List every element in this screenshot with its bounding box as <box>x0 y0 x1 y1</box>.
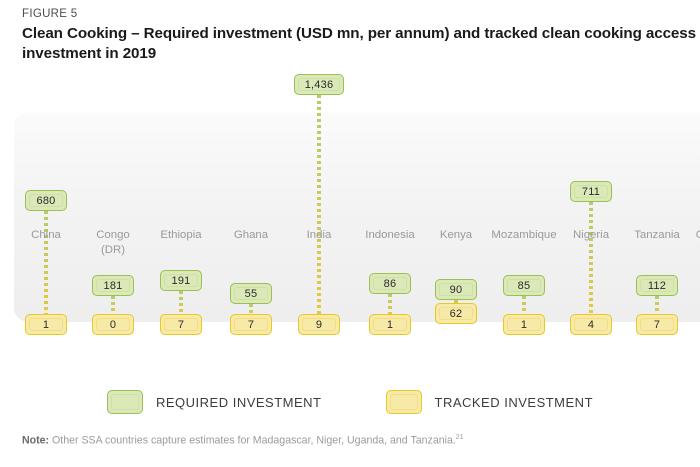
chart-category-column: 861Indonesia <box>354 0 426 340</box>
legend-swatch-tracked-icon <box>386 390 422 414</box>
tracked-investment-value: 7 <box>248 319 254 331</box>
legend-item-required[interactable]: REQUIRED INVESTMENT <box>107 390 322 414</box>
required-investment-value: 680 <box>37 195 56 207</box>
chart-category-column: 1810Congo (DR) <box>77 0 149 340</box>
required-investment-value: 85 <box>518 280 531 292</box>
tracked-investment-value: 62 <box>450 308 463 320</box>
tracked-investment-value: 9 <box>316 319 322 331</box>
tracked-investment-value: 1 <box>387 319 393 331</box>
tracked-investment-value: 4 <box>588 319 594 331</box>
required-investment-value: 90 <box>450 284 463 296</box>
tracked-investment-value-box[interactable]: 0 <box>92 314 134 335</box>
tracked-investment-value: 7 <box>178 319 184 331</box>
chart-plot-area: 6801China1810Congo (DR)1917Ethiopia557Gh… <box>0 0 700 340</box>
required-investment-value-box[interactable]: 191 <box>160 270 202 291</box>
value-connector-line <box>111 296 115 314</box>
chart-category-label: Other SSA (o <box>675 228 700 257</box>
chart-category-column: 6801China <box>10 0 82 340</box>
required-investment-value-box[interactable]: 90 <box>435 279 477 300</box>
required-investment-value-box[interactable]: 1,436 <box>294 74 344 95</box>
tracked-investment-value-box[interactable]: 9 <box>298 314 340 335</box>
chart-category-column: 1917Ethiopia <box>145 0 217 340</box>
chart-category-column: 9062Kenya <box>420 0 492 340</box>
value-connector-line <box>655 296 659 314</box>
chart-category-column: 557Ghana <box>215 0 287 340</box>
tracked-investment-value: 1 <box>43 319 49 331</box>
tracked-investment-value: 0 <box>110 319 116 331</box>
legend-swatch-required-icon <box>107 390 143 414</box>
tracked-investment-value-box[interactable]: 7 <box>230 314 272 335</box>
required-investment-value: 55 <box>245 288 258 300</box>
chart-category-column: 851Mozambique <box>488 0 560 340</box>
figure-container: FIGURE 5 Clean Cooking – Required invest… <box>0 0 700 467</box>
note-text: Other SSA countries capture estimates fo… <box>49 435 456 447</box>
required-investment-value-box[interactable]: 711 <box>570 181 612 202</box>
chart-legend: REQUIRED INVESTMENT TRACKED INVESTMENT <box>0 390 700 414</box>
required-investment-value-box[interactable]: 55 <box>230 283 272 304</box>
note-footnote-marker: 21 <box>456 434 464 441</box>
required-investment-value-box[interactable]: 680 <box>25 190 67 211</box>
tracked-investment-value-box[interactable]: 62 <box>435 303 477 324</box>
required-investment-value-box[interactable]: 112 <box>636 275 678 296</box>
note-prefix: Note: <box>22 435 49 447</box>
tracked-investment-value-box[interactable]: 7 <box>636 314 678 335</box>
required-investment-value: 86 <box>384 278 397 290</box>
required-investment-value: 711 <box>582 186 600 198</box>
required-investment-value: 112 <box>648 280 666 292</box>
tracked-investment-value-box[interactable]: 1 <box>369 314 411 335</box>
tracked-investment-value-box[interactable]: 7 <box>160 314 202 335</box>
figure-note: Note: Other SSA countries capture estima… <box>22 434 464 447</box>
value-connector-line <box>388 294 392 314</box>
required-investment-value-box[interactable]: 85 <box>503 275 545 296</box>
tracked-investment-value-box[interactable]: 1 <box>503 314 545 335</box>
required-investment-value-box[interactable]: 86 <box>369 273 411 294</box>
value-connector-line <box>249 304 253 314</box>
required-investment-value: 1,436 <box>305 79 334 91</box>
value-connector-line <box>522 296 526 314</box>
value-connector-line <box>44 211 48 314</box>
chart-category-column: 1,4369India <box>283 0 355 340</box>
tracked-investment-value-box[interactable]: 1 <box>25 314 67 335</box>
required-investment-value: 191 <box>172 275 191 287</box>
legend-label-tracked: TRACKED INVESTMENT <box>435 395 594 410</box>
legend-item-tracked[interactable]: TRACKED INVESTMENT <box>386 390 594 414</box>
chart-category-column: Other SSA (o <box>687 0 700 340</box>
required-investment-value: 181 <box>104 280 123 292</box>
value-connector-line <box>589 202 593 314</box>
required-investment-value-box[interactable]: 181 <box>92 275 134 296</box>
chart-category-column: 7114Nigeria <box>555 0 627 340</box>
tracked-investment-value: 7 <box>654 319 660 331</box>
tracked-investment-value: 1 <box>521 319 527 331</box>
legend-label-required: REQUIRED INVESTMENT <box>156 395 322 410</box>
tracked-investment-value-box[interactable]: 4 <box>570 314 612 335</box>
value-connector-line <box>179 291 183 314</box>
chart-category-column: 1127Tanzania <box>621 0 693 340</box>
value-connector-line <box>317 95 321 314</box>
